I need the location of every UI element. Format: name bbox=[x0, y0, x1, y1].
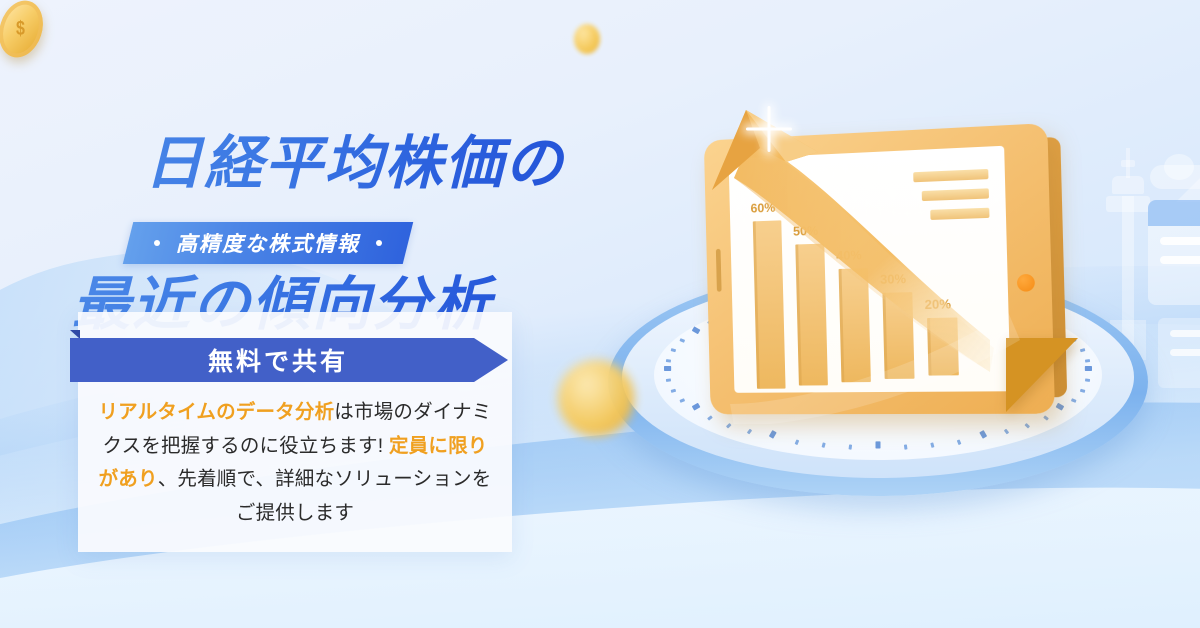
tablet-device: 60%50%40%30%20% bbox=[704, 123, 1055, 414]
dial-tick bbox=[957, 439, 962, 445]
chart-bar-label: 20% bbox=[924, 296, 951, 312]
cloud-shape bbox=[1150, 165, 1200, 189]
dial-tick bbox=[726, 423, 732, 429]
sheet-shape bbox=[1158, 318, 1200, 388]
dial-tick bbox=[904, 445, 908, 450]
chart-bar bbox=[927, 317, 959, 375]
chart-bar bbox=[839, 268, 871, 382]
dial-tick bbox=[1004, 429, 1009, 435]
dial-tick bbox=[769, 430, 777, 439]
dial-tick bbox=[1043, 415, 1049, 420]
dial-tick bbox=[666, 359, 671, 363]
dial-tick bbox=[1025, 423, 1031, 429]
dial-tick bbox=[931, 443, 935, 449]
chart-bar bbox=[753, 220, 786, 389]
tower-spire bbox=[1126, 148, 1130, 178]
hero-banner: 60%50%40%30%20% bbox=[0, 0, 1200, 628]
sheet-line bbox=[1170, 330, 1200, 337]
coin-currency-symbol: $ bbox=[17, 18, 26, 41]
dial-tick bbox=[707, 415, 713, 420]
dial-tick bbox=[680, 398, 686, 403]
ribbon-label: 無料で共有 bbox=[208, 342, 348, 378]
dial-tick bbox=[664, 366, 671, 371]
dial-tick bbox=[671, 388, 677, 392]
dial-tick bbox=[1085, 379, 1090, 383]
coin-top bbox=[574, 24, 600, 54]
dial-tick bbox=[691, 326, 700, 334]
dial-tick bbox=[747, 429, 752, 435]
dial-tick bbox=[795, 439, 800, 445]
tablet-screen: 60%50%40%30%20% bbox=[729, 146, 1011, 393]
bullet-dot-right bbox=[376, 240, 382, 246]
tower-tip bbox=[1121, 160, 1135, 167]
dial-tick bbox=[1080, 388, 1086, 392]
document-card-line bbox=[1160, 237, 1200, 245]
page-title-line-1: 日経平均株価の bbox=[144, 131, 564, 196]
dial-tick bbox=[849, 445, 853, 450]
chart-bar-label: 50% bbox=[793, 223, 818, 239]
share-free-ribbon[interactable]: 無料で共有 bbox=[70, 338, 508, 382]
sheet-line bbox=[1170, 349, 1200, 356]
coin-right: $ bbox=[0, 0, 50, 63]
dial-tick bbox=[1080, 348, 1086, 352]
offer-highlight-text: リアルタイムのデータ分析 bbox=[98, 401, 334, 423]
subtitle-text: 高精度な株式情報 bbox=[176, 228, 360, 258]
dial-tick bbox=[680, 338, 686, 343]
dial-tick bbox=[876, 441, 881, 448]
dial-tick bbox=[979, 430, 987, 439]
chart-bar-label: 30% bbox=[880, 271, 906, 287]
bullet-dot-left bbox=[154, 240, 160, 246]
chart-bar bbox=[882, 292, 914, 379]
bar-chart: 60%50%40%30%20% bbox=[746, 171, 994, 389]
document-card-line bbox=[1160, 256, 1200, 264]
chart-bar-label: 40% bbox=[836, 247, 862, 263]
tower-deck bbox=[1106, 196, 1150, 212]
chart-bar bbox=[795, 244, 828, 386]
triangle-shape bbox=[1176, 176, 1200, 202]
dial-tick bbox=[691, 403, 700, 411]
offer-plain-text: 、先着順で、詳細なソリューションをご提供します bbox=[158, 468, 492, 524]
dial-tick bbox=[666, 379, 671, 383]
tower-upper-deck bbox=[1112, 176, 1144, 194]
offer-card-body: リアルタイムのデータ分析は市場のダイナミクスを把握するのに役立ちます! 定員に限… bbox=[96, 396, 494, 530]
dial-tick bbox=[1085, 359, 1090, 363]
subtitle-badge: 高精度な株式情報 bbox=[123, 222, 413, 264]
dial-tick bbox=[821, 443, 825, 449]
dial-tick bbox=[1085, 366, 1092, 371]
chart-bar-label: 60% bbox=[750, 200, 775, 216]
document-card-header bbox=[1148, 200, 1200, 226]
legend-bar-3 bbox=[930, 208, 989, 220]
document-card-shape bbox=[1148, 200, 1200, 305]
coin-mid bbox=[558, 360, 634, 436]
tablet-kickstand bbox=[1006, 338, 1078, 412]
dial-tick bbox=[671, 348, 677, 352]
